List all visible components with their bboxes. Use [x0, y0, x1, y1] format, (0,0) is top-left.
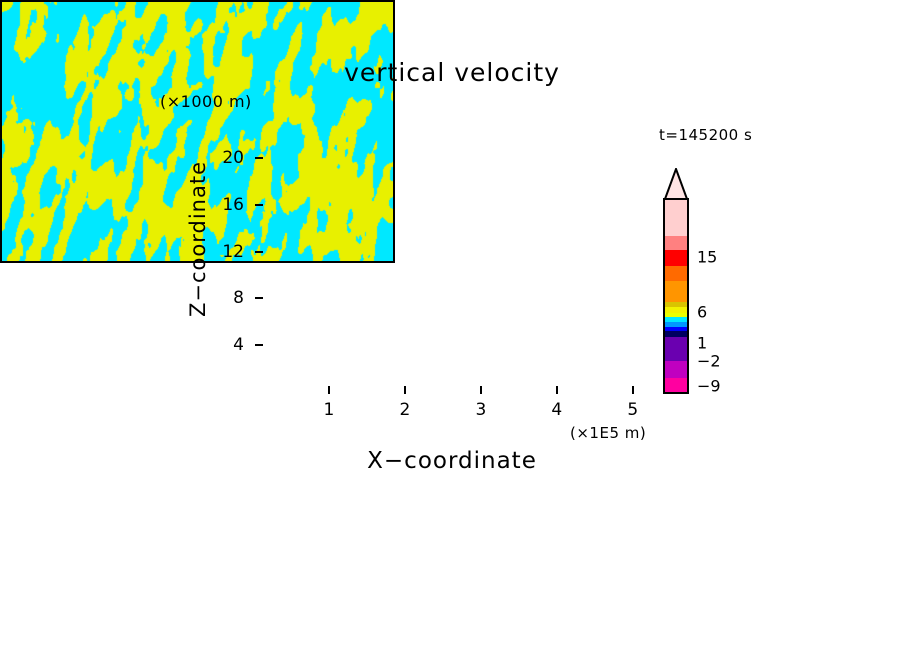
colorbar-tick-label: −2: [697, 351, 721, 370]
colorbar-band: [665, 200, 687, 236]
x-tick-label: 4: [551, 400, 562, 420]
x-tick-label: 3: [475, 400, 486, 420]
colorbar-band: [665, 250, 687, 267]
y-tick-mark: [255, 251, 263, 253]
colorbar-band: [665, 281, 687, 302]
colorbar: 1561−2−9: [663, 168, 753, 396]
colorbar-band: [665, 236, 687, 250]
colorbar-band: [665, 337, 687, 361]
y-tick-mark: [255, 204, 263, 206]
chart-title: vertical velocity: [0, 58, 904, 87]
y-tick-label: 12: [222, 242, 244, 262]
x-axis-title: X−coordinate: [0, 448, 904, 474]
x-tick-mark: [404, 386, 406, 394]
x-axis-ticks: 12345: [253, 396, 648, 420]
y-tick-mark: [255, 344, 263, 346]
x-tick-label: 1: [324, 400, 335, 420]
colorbar-tick-label: −9: [697, 377, 721, 396]
colorbar-band: [665, 266, 687, 280]
colorbar-bands: [663, 198, 689, 394]
y-axis-unit-label: (×1000 m): [160, 92, 252, 111]
x-tick-label: 5: [627, 400, 638, 420]
y-tick-label: 4: [233, 335, 244, 355]
y-tick-mark: [255, 157, 263, 159]
time-annotation: t=145200 s: [659, 126, 752, 144]
y-tick-mark: [255, 297, 263, 299]
colorbar-tick-label: 15: [697, 247, 717, 266]
colorbar-band: [665, 378, 687, 392]
y-tick-label: 16: [222, 195, 244, 215]
x-tick-mark: [480, 386, 482, 394]
y-axis-title: Z−coordinate: [186, 161, 210, 317]
colorbar-tick-label: 1: [697, 334, 707, 353]
colorbar-band: [665, 361, 687, 378]
x-tick-mark: [632, 386, 634, 394]
x-tick-label: 2: [400, 400, 411, 420]
x-tick-mark: [556, 386, 558, 394]
colorbar-arrow-cap-icon: [663, 168, 689, 200]
y-tick-label: 8: [233, 288, 244, 308]
x-tick-mark: [328, 386, 330, 394]
x-axis-unit-label: (×1E5 m): [570, 424, 646, 442]
colorbar-tick-label: 6: [697, 302, 707, 321]
y-tick-label: 20: [222, 148, 244, 168]
